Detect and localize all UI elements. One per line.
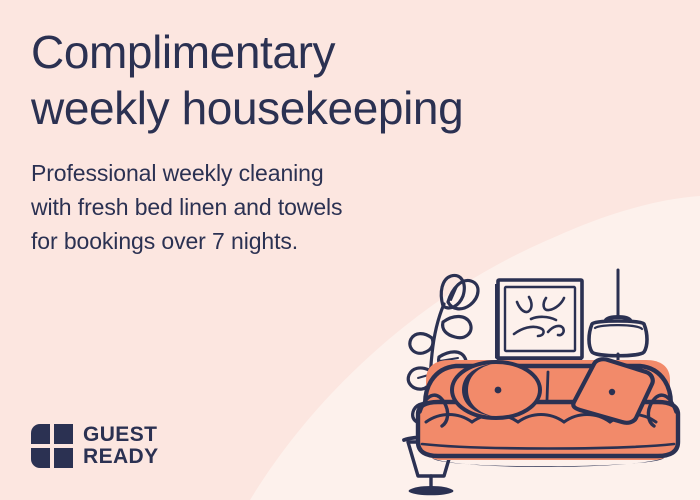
round-bolster-cushion-icon	[452, 362, 540, 418]
logo-line-2: READY	[83, 446, 159, 468]
living-room-illustration	[396, 262, 696, 500]
text-block: Complimentary weekly housekeeping Profes…	[31, 24, 631, 258]
headline: Complimentary weekly housekeeping	[31, 24, 631, 136]
promo-banner: Complimentary weekly housekeeping Profes…	[0, 0, 700, 500]
sofa-icon	[418, 359, 678, 467]
framed-artwork-icon	[495, 280, 582, 364]
subhead: Professional weekly cleaning with fresh …	[31, 136, 631, 258]
logo-line-1: GUEST	[83, 424, 159, 446]
guestready-quadrant-mark-icon	[31, 424, 73, 468]
guestready-logo: GUEST READY	[31, 424, 159, 468]
logo-wordmark: GUEST READY	[83, 424, 159, 468]
